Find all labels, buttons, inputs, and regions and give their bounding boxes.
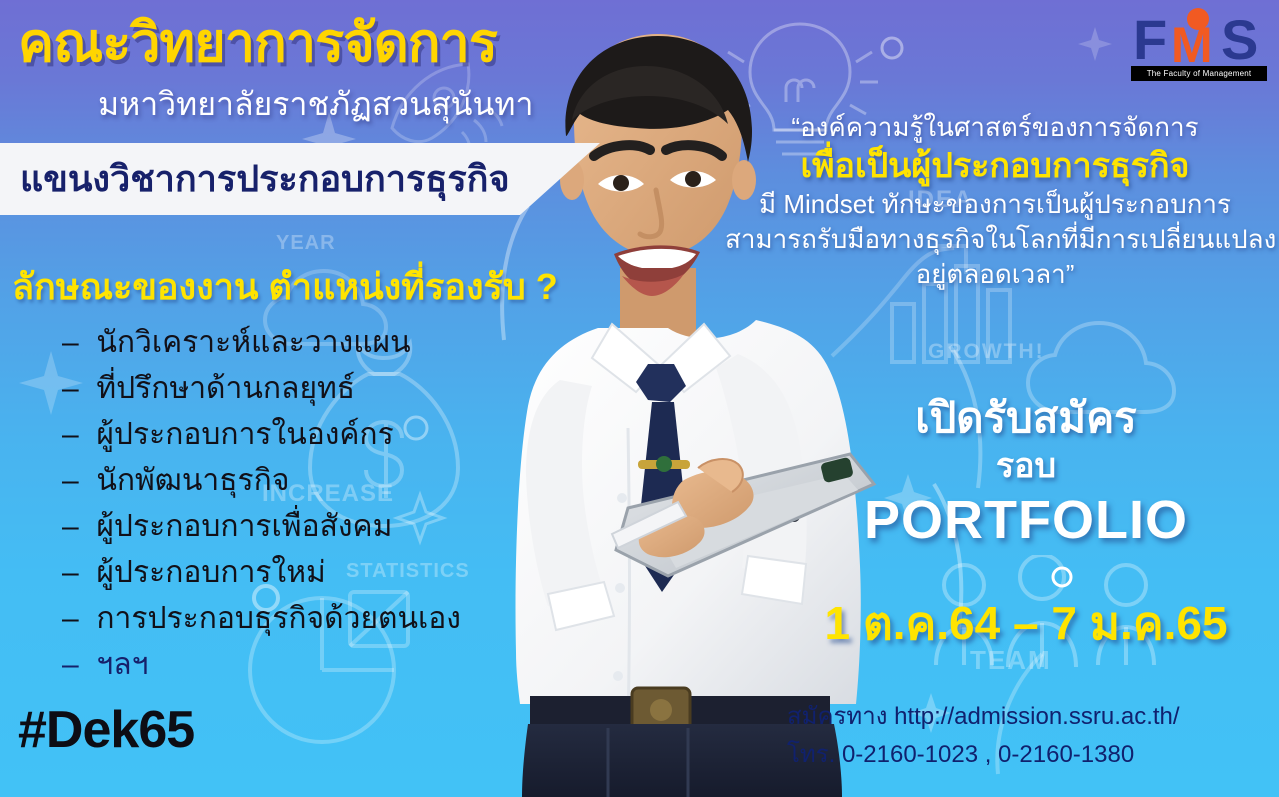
fms-logo-letter-f: F xyxy=(1133,14,1167,66)
quote-line-emphasis: เพื่อเป็นผู้ประกอบการธุรกิจ xyxy=(725,145,1265,187)
list-bullet: – xyxy=(62,642,88,688)
list-bullet: – xyxy=(62,504,88,550)
list-bullet: – xyxy=(62,366,88,412)
list-item: – การประกอบธุรกิจด้วยตนเอง xyxy=(62,596,502,642)
hashtag-dek65: #Dek65 xyxy=(18,700,194,760)
quote-line: มี Mindset ทักษะของการเป็นผู้ประกอบการ xyxy=(725,187,1265,222)
fms-logo-tagline: The Faculty of Management Science xyxy=(1131,66,1267,81)
list-bullet: – xyxy=(62,412,88,458)
poster-root: YEAR IDEA GROWTH! INCREASE STATISTICS TE… xyxy=(0,0,1279,797)
list-item: – ผู้ประกอบการในองค์กร xyxy=(62,412,502,458)
quote-line: สามารถรับมือทางธุรกิจในโลกที่มีการเปลี่ย… xyxy=(725,222,1265,257)
list-item-label: ผู้ประกอบการใหม่ xyxy=(96,556,325,589)
list-item: – ผู้ประกอบการใหม่ xyxy=(62,550,502,596)
jobs-heading: ลักษณะของงาน ตำแหน่งที่รองรับ ? xyxy=(12,258,558,315)
university-name: มหาวิทยาลัยราชภัฏสวนสุนันทา xyxy=(98,88,533,120)
admission-open-label: เปิดรับสมัคร xyxy=(791,392,1261,444)
decor-label-year: YEAR xyxy=(276,232,336,255)
list-item: – นักพัฒนาธุรกิจ xyxy=(62,458,502,504)
faculty-title: คณะวิทยาการจัดการ xyxy=(18,16,497,70)
list-item-label: ผู้ประกอบการในองค์กร xyxy=(96,418,393,451)
list-item: – นักวิเคราะห์และวางแผน xyxy=(62,320,502,366)
admission-website-line[interactable]: สมัครทาง http://admission.ssru.ac.th/ xyxy=(787,698,1257,736)
program-name: แขนงวิชาการประกอบการธุรกิจ xyxy=(20,155,510,203)
list-item: – ฯลฯ xyxy=(62,642,502,688)
list-item: – ผู้ประกอบการเพื่อสังคม xyxy=(62,504,502,550)
list-item-label: ที่ปรึกษาด้านกลยุทธ์ xyxy=(96,372,355,405)
list-item-label: การประกอบธุรกิจด้วยตนเอง xyxy=(96,602,461,635)
admission-round-name: PORTFOLIO xyxy=(791,488,1261,552)
list-item-label: นักวิเคราะห์และวางแผน xyxy=(96,326,410,359)
phone-line: โทร. 0-2160-1023 , 0-2160-1380 xyxy=(787,736,1257,774)
list-item-label: นักพัฒนาธุรกิจ xyxy=(96,464,289,497)
quote-line: “องค์ความรู้ในศาสตร์ของการจัดการ xyxy=(725,110,1265,145)
program-banner: แขนงวิชาการประกอบการธุรกิจ xyxy=(0,143,600,215)
admission-dates: 1 ต.ค.64 – 7 ม.ค.65 xyxy=(791,594,1261,652)
jobs-list: – นักวิเคราะห์และวางแผน – ที่ปรึกษาด้านก… xyxy=(62,320,502,688)
list-bullet: – xyxy=(62,550,88,596)
quote-line: อยู่ตลอดเวลา” xyxy=(725,257,1265,292)
list-bullet: – xyxy=(62,458,88,504)
decor-label-growth: GROWTH! xyxy=(928,340,1045,364)
list-bullet: – xyxy=(62,320,88,366)
fms-logo-letter-m: M xyxy=(1171,22,1213,68)
contact-block: สมัครทาง http://admission.ssru.ac.th/ โท… xyxy=(787,698,1257,774)
admission-round-label: รอบ xyxy=(791,444,1261,488)
quote-block: “องค์ความรู้ในศาสตร์ของการจัดการ เพื่อเป… xyxy=(725,110,1265,292)
list-item-label: ผู้ประกอบการเพื่อสังคม xyxy=(96,510,392,543)
fms-logo-letter-s: S xyxy=(1221,14,1258,66)
admission-block: เปิดรับสมัคร รอบ PORTFOLIO 1 ต.ค.64 – 7 … xyxy=(791,392,1261,652)
list-item-label: ฯลฯ xyxy=(96,648,148,681)
fms-logo-mark: F M S xyxy=(1125,8,1271,64)
fms-logo: F M S The Faculty of Management Science xyxy=(1125,8,1271,86)
list-item: – ที่ปรึกษาด้านกลยุทธ์ xyxy=(62,366,502,412)
list-bullet: – xyxy=(62,596,88,642)
